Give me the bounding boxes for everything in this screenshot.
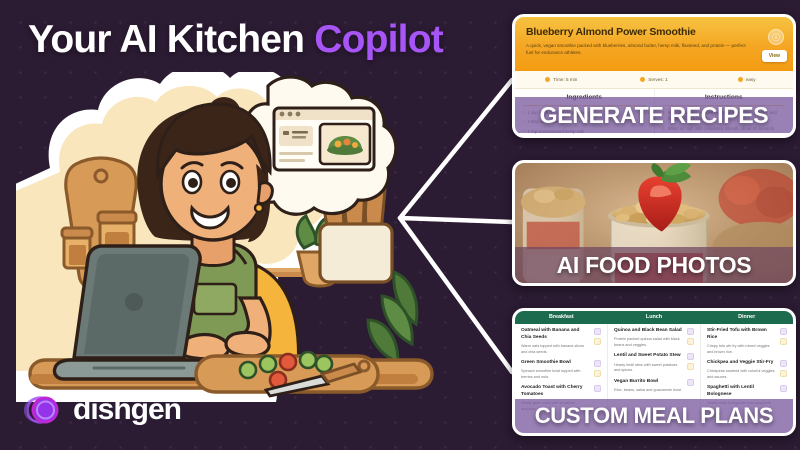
serving-icon xyxy=(640,77,645,82)
meal-name: Green Smoothie Bowl xyxy=(521,360,589,367)
fern-plant xyxy=(368,272,417,362)
meal-name: Chickpea and Veggie Stir-Fry xyxy=(707,360,775,367)
recipe-title: Blueberry Almond Power Smoothie xyxy=(526,26,782,38)
promo-banner: Your AI Kitchen Copilot xyxy=(0,0,800,450)
page-title-accent: Copilot xyxy=(314,18,443,61)
recipe-meta-time: Time: 5 min xyxy=(515,77,608,82)
card-overlay-generate-recipes: GENERATE RECIPES xyxy=(515,97,793,133)
meal-action-icon[interactable] xyxy=(687,353,694,360)
meal-description: Chickpeas sauteed with colorful veggies … xyxy=(707,369,775,380)
meal-name: Spaghetti with Lentil Bolognese xyxy=(707,385,775,399)
difficulty-icon xyxy=(738,77,743,82)
recipe-meta-time-label: Time: 5 min xyxy=(553,77,577,82)
card-overlay-label: CUSTOM MEAL PLANS xyxy=(535,403,774,429)
meal-action-icon[interactable] xyxy=(780,328,787,335)
meal-description: Rice, beans, salsa and guacamole bowl. xyxy=(614,388,682,394)
recipe-meta-difficulty: easy xyxy=(700,77,793,82)
instruction-item: 3Add ice cubes and maple syrup if using,… xyxy=(663,135,786,138)
clock-icon xyxy=(545,77,550,82)
card-overlay-custom-meal-plans: CUSTOM MEAL PLANS xyxy=(515,399,793,433)
card-overlay-ai-food-photos: AI FOOD PHOTOS xyxy=(515,247,793,283)
meal-name: Oatmeal with Banana and Chia Seeds xyxy=(521,328,589,342)
meal-description: Spinach smoothie bowl topped with berrie… xyxy=(521,369,589,380)
meal-action-icon[interactable] xyxy=(687,379,694,386)
card-ai-food-photos[interactable]: AI FOOD PHOTOS xyxy=(512,160,796,286)
meal-plan-header-dinner: Dinner xyxy=(700,311,793,324)
meal-favorite-icon[interactable] xyxy=(780,370,787,377)
meal-plan-cell[interactable]: Oatmeal with Banana and Chia Seeds Warm … xyxy=(521,328,601,355)
meal-plan-header-breakfast: Breakfast xyxy=(515,311,608,324)
meal-plan-cell[interactable]: Stir-Fried Tofu with Brown Rice Crispy t… xyxy=(707,328,787,355)
meal-description: Warm oats topped with banana slices and … xyxy=(521,344,589,355)
meal-description: Hearty lentil stew with sweet potatoes a… xyxy=(614,363,682,374)
meal-favorite-icon[interactable] xyxy=(780,338,787,345)
recipe-view-button[interactable]: View xyxy=(762,50,787,62)
recipe-meta-servings: Serves: 1 xyxy=(608,77,701,82)
meal-plan-cell[interactable]: Vegan Burrito Bowl Rice, beans, salsa an… xyxy=(614,379,694,394)
recipe-header: Blueberry Almond Power Smoothie A quick,… xyxy=(515,17,793,71)
recipe-meta-row: Time: 5 min Serves: 1 easy xyxy=(515,71,793,89)
meal-plan-cell[interactable]: Chickpea and Veggie Stir-Fry Chickpeas s… xyxy=(707,360,787,380)
meal-favorite-icon[interactable] xyxy=(594,370,601,377)
meal-favorite-icon[interactable] xyxy=(687,338,694,345)
recipe-info-icon[interactable]: ⓘ xyxy=(768,29,784,45)
meal-favorite-icon[interactable] xyxy=(594,338,601,345)
brand-logo-text: dishgen xyxy=(73,393,181,427)
meal-description: Crispy tofu stir fry with mixed veggies … xyxy=(707,344,775,355)
meal-plan-cell[interactable]: Green Smoothie Bowl Spinach smoothie bow… xyxy=(521,360,601,380)
meal-action-icon[interactable] xyxy=(780,385,787,392)
card-generate-recipes[interactable]: Blueberry Almond Power Smoothie A quick,… xyxy=(512,14,796,138)
card-custom-meal-plans[interactable]: Breakfast Lunch Dinner Oatmeal with Bana… xyxy=(512,308,796,436)
recipe-description: A quick, vegan smoothie packed with blue… xyxy=(526,42,754,56)
meal-name: Stir-Fried Tofu with Brown Rice xyxy=(707,328,775,342)
page-title-primary: Your AI Kitchen xyxy=(28,18,314,61)
meal-plan-header-lunch: Lunch xyxy=(608,311,701,324)
step-number: 3 xyxy=(663,135,665,138)
meal-plan-cell[interactable]: Quinoa and Black Bean Salad Protein pack… xyxy=(614,328,694,348)
recipe-meta-difficulty-label: easy xyxy=(746,77,756,82)
meal-name: Avocado Toast with Cherry Tomatoes xyxy=(521,385,589,399)
dishgen-logo-icon xyxy=(22,388,66,432)
meal-plan-header-row: Breakfast Lunch Dinner xyxy=(515,311,793,324)
meal-description: Protein packed quinoa salad with black b… xyxy=(614,337,682,348)
meal-plan-cell[interactable]: Lentil and Sweet Potato Stew Hearty lent… xyxy=(614,353,694,373)
meal-name: Quinoa and Black Bean Salad xyxy=(614,328,682,335)
meal-action-icon[interactable] xyxy=(780,360,787,367)
kitchen-illustration xyxy=(16,72,436,402)
meal-name: Lentil and Sweet Potato Stew xyxy=(614,353,682,360)
meal-name: Vegan Burrito Bowl xyxy=(614,379,682,386)
page-title: Your AI Kitchen Copilot xyxy=(28,18,443,62)
recipe-meta-servings-label: Serves: 1 xyxy=(648,77,667,82)
meal-action-icon[interactable] xyxy=(594,385,601,392)
card-overlay-label: AI FOOD PHOTOS xyxy=(557,252,752,279)
card-overlay-label: GENERATE RECIPES xyxy=(540,102,769,129)
meal-action-icon[interactable] xyxy=(594,328,601,335)
brand-logo[interactable]: dishgen xyxy=(22,388,181,432)
cutting-board-veggies xyxy=(196,352,378,396)
meal-action-icon[interactable] xyxy=(687,328,694,335)
meal-favorite-icon[interactable] xyxy=(687,363,694,370)
meal-action-icon[interactable] xyxy=(594,360,601,367)
